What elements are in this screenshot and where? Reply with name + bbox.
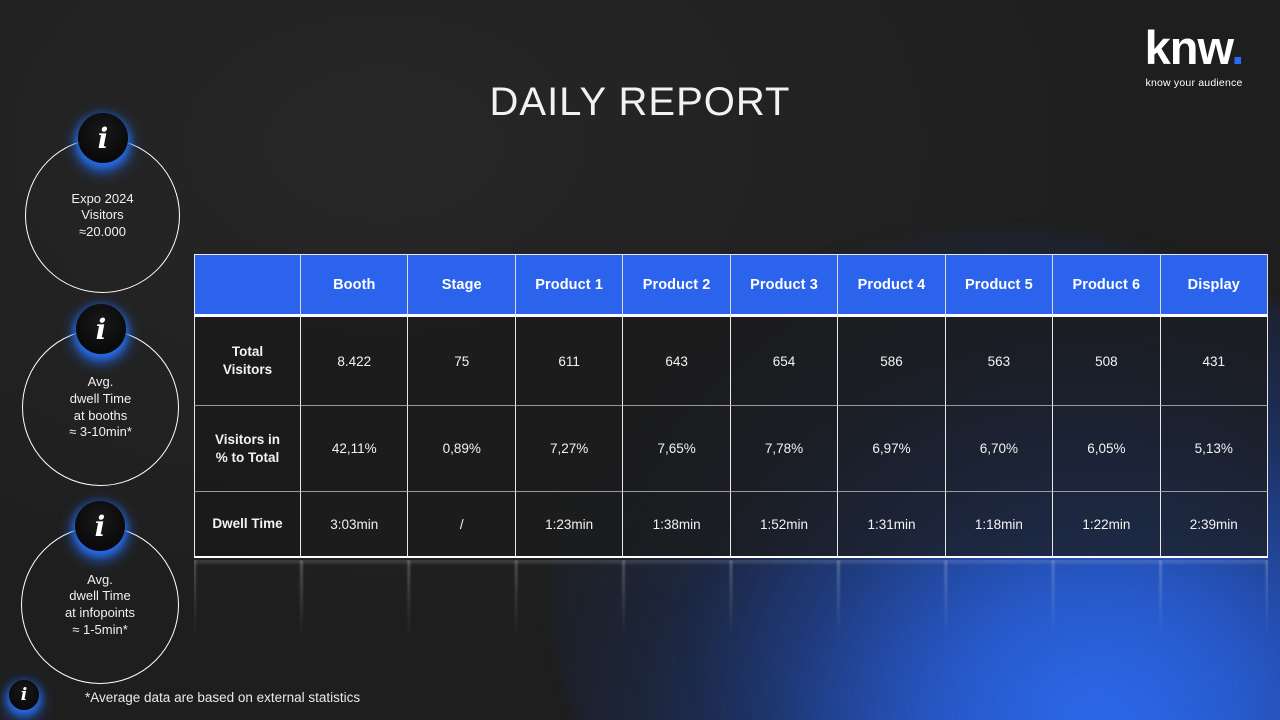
- cell-percent-product-1: 7,27%: [516, 406, 623, 492]
- info-icon: i: [75, 501, 125, 551]
- column-header-stage: Stage: [408, 254, 515, 317]
- info-line: dwell Time: [69, 391, 132, 408]
- cell-percent-product-4: 6,97%: [838, 406, 945, 492]
- cell-percent-product-3: 7,78%: [731, 406, 838, 492]
- page-title: DAILY REPORT: [0, 80, 1280, 125]
- table-row: Dwell Time 3:03min / 1:23min 1:38min 1:5…: [194, 492, 1268, 558]
- cell-percent-booth: 42,11%: [301, 406, 408, 492]
- report-slide: knw. know your audience DAILY REPORT i E…: [0, 0, 1280, 720]
- cell-percent-product-2: 7,65%: [623, 406, 730, 492]
- info-line: dwell Time: [65, 588, 135, 605]
- info-line: Expo 2024: [71, 191, 133, 208]
- cell-total-visitors-booth: 8.422: [301, 317, 408, 406]
- info-icon: i: [9, 680, 39, 710]
- cell-percent-display: 5,13%: [1161, 406, 1268, 492]
- table-row: Visitors in % to Total 42,11% 0,89% 7,27…: [194, 406, 1268, 492]
- footnote-text: *Average data are based on external stat…: [85, 690, 360, 705]
- info-line: ≈20.000: [71, 224, 133, 241]
- cell-total-visitors-product-5: 563: [946, 317, 1053, 406]
- row-header-line: Total: [195, 343, 300, 361]
- row-header-total-visitors: Total Visitors: [194, 317, 301, 406]
- cell-dwell-product-2: 1:38min: [623, 492, 730, 558]
- cell-percent-product-6: 6,05%: [1053, 406, 1160, 492]
- column-header-booth: Booth: [301, 254, 408, 317]
- info-line: Avg.: [69, 374, 132, 391]
- reflection-highlight: [194, 560, 1268, 564]
- table-header-row: Booth Stage Product 1 Product 2 Product …: [194, 254, 1268, 317]
- table-body: Total Visitors 8.422 75 611 643 654 586 …: [194, 317, 1268, 558]
- column-header-display: Display: [1161, 254, 1268, 317]
- info-icon: i: [76, 304, 126, 354]
- column-header-product-6: Product 6: [1053, 254, 1160, 317]
- info-line: Visitors: [71, 207, 133, 224]
- info-icon-glyph: i: [98, 122, 109, 155]
- info-icon-glyph: i: [96, 313, 107, 346]
- cell-dwell-display: 2:39min: [1161, 492, 1268, 558]
- table-row: Total Visitors 8.422 75 611 643 654 586 …: [194, 317, 1268, 406]
- info-icon-glyph: i: [95, 510, 106, 543]
- info-line: at infopoints: [65, 605, 135, 622]
- column-header-product-1: Product 1: [516, 254, 623, 317]
- cell-dwell-product-1: 1:23min: [516, 492, 623, 558]
- cell-dwell-product-4: 1:31min: [838, 492, 945, 558]
- info-icon-glyph: i: [21, 685, 27, 705]
- info-icon: i: [78, 113, 128, 163]
- report-table-container: Booth Stage Product 1 Product 2 Product …: [194, 254, 1268, 558]
- column-header-product-2: Product 2: [623, 254, 730, 317]
- column-header-product-3: Product 3: [731, 254, 838, 317]
- row-header-line: Dwell Time: [195, 515, 300, 533]
- info-line: Avg.: [65, 572, 135, 589]
- column-header-product-4: Product 4: [838, 254, 945, 317]
- report-table: Booth Stage Product 1 Product 2 Product …: [194, 254, 1268, 558]
- cell-dwell-stage: /: [408, 492, 515, 558]
- row-header-line: % to Total: [195, 449, 300, 467]
- row-header-visitors-percent: Visitors in % to Total: [194, 406, 301, 492]
- column-header-corner: [194, 254, 301, 317]
- logo-dot: .: [1231, 21, 1243, 74]
- info-line: ≈ 1-5min*: [65, 622, 135, 639]
- row-header-line: Visitors in: [195, 431, 300, 449]
- cell-percent-product-5: 6,70%: [946, 406, 1053, 492]
- logo-wordmark: knw.: [1130, 24, 1258, 71]
- info-line: ≈ 3-10min*: [69, 424, 132, 441]
- cell-percent-stage: 0,89%: [408, 406, 515, 492]
- cell-total-visitors-product-6: 508: [1053, 317, 1160, 406]
- cell-dwell-product-6: 1:22min: [1053, 492, 1160, 558]
- info-line: at booths: [69, 408, 132, 425]
- cell-dwell-product-5: 1:18min: [946, 492, 1053, 558]
- cell-total-visitors-product-4: 586: [838, 317, 945, 406]
- logo-word-text: knw: [1145, 21, 1232, 74]
- cell-dwell-booth: 3:03min: [301, 492, 408, 558]
- table-header: Booth Stage Product 1 Product 2 Product …: [194, 254, 1268, 317]
- table-reflection: [194, 560, 1268, 655]
- cell-total-visitors-display: 431: [1161, 317, 1268, 406]
- row-header-dwell-time: Dwell Time: [194, 492, 301, 558]
- column-header-product-5: Product 5: [946, 254, 1053, 317]
- row-header-line: Visitors: [195, 361, 300, 379]
- cell-total-visitors-stage: 75: [408, 317, 515, 406]
- cell-dwell-product-3: 1:52min: [731, 492, 838, 558]
- brand-logo: knw. know your audience: [1130, 24, 1258, 89]
- cell-total-visitors-product-3: 654: [731, 317, 838, 406]
- cell-total-visitors-product-2: 643: [623, 317, 730, 406]
- reflection-grid: [194, 560, 1268, 655]
- cell-total-visitors-product-1: 611: [516, 317, 623, 406]
